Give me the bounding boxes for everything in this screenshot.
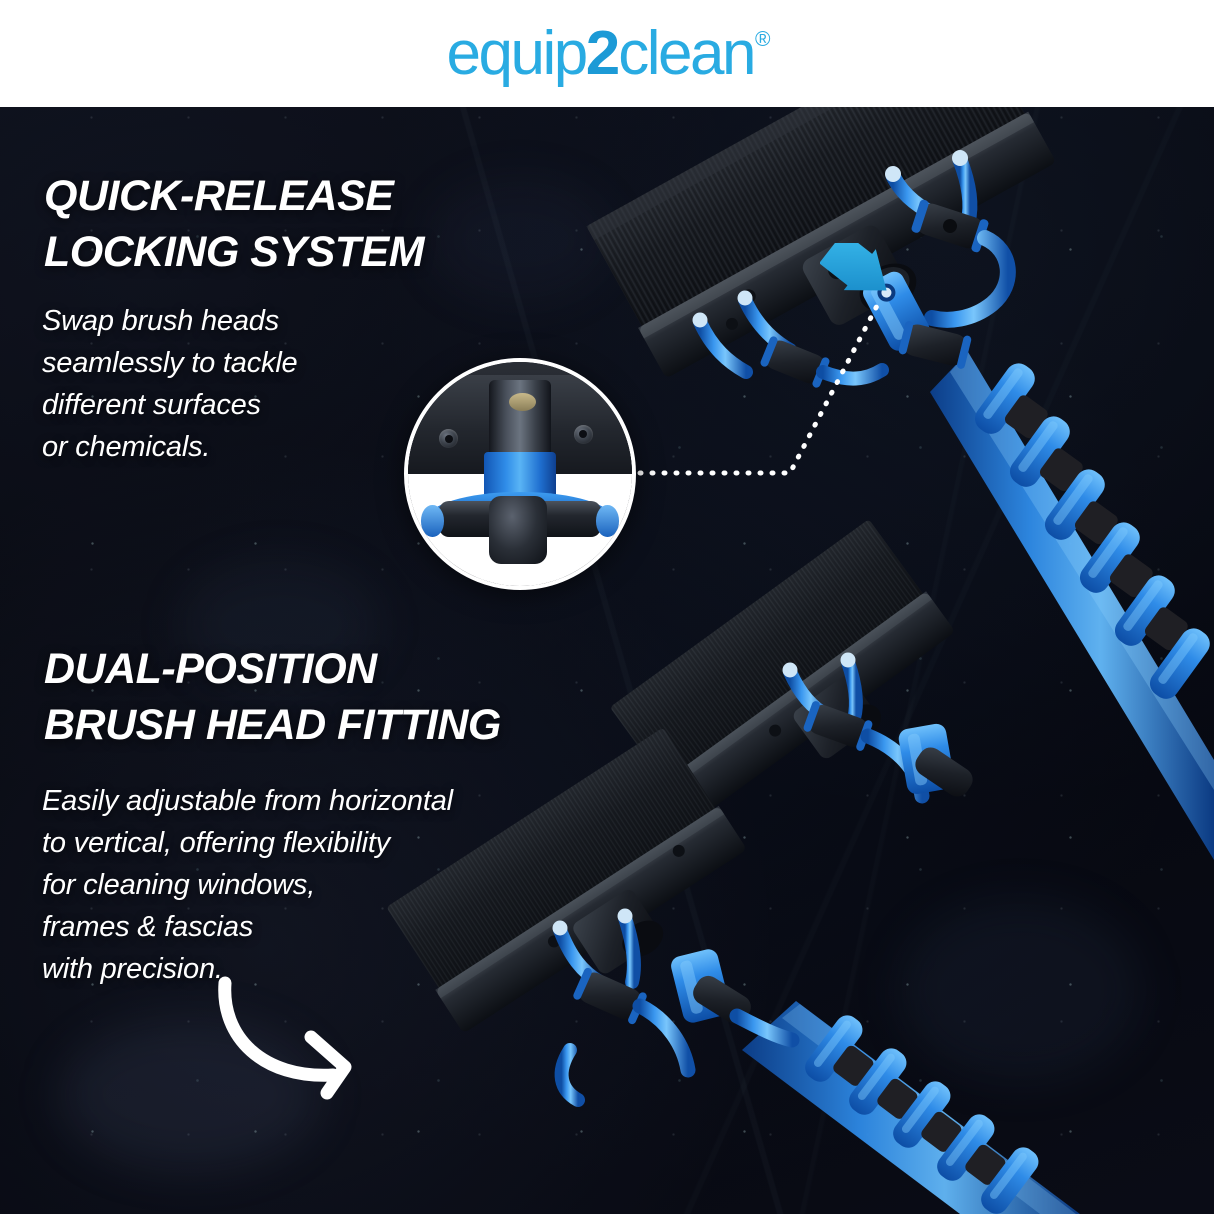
- logo-text-two: 2: [586, 18, 618, 89]
- feature-heading-quick-release: QUICK-RELEASE LOCKING SYSTEM: [44, 168, 424, 280]
- feature-body-quick-release: Swap brush heads seamlessly to tackle di…: [42, 300, 298, 468]
- inset-nub-right: [596, 505, 618, 536]
- feature-heading-dual-position: DUAL-POSITION BRUSH HEAD FITTING: [44, 641, 501, 753]
- curved-arrow-icon: [215, 975, 405, 1100]
- telescopic-pole: [742, 352, 1214, 1214]
- inset-brass-pin: [509, 393, 536, 411]
- logo-text-clean: clean: [618, 18, 754, 89]
- feature-body-dual-position: Easily adjustable from horizontal to ver…: [42, 780, 453, 990]
- inset-locking-knob: [489, 496, 547, 563]
- logo-text-equip: equip: [447, 18, 586, 89]
- infographic-page: equip 2 clean ® QUICK-RELEASE LOCKING SY…: [0, 0, 1214, 1214]
- brand-logo: equip 2 clean ®: [447, 18, 768, 89]
- detail-circle-inset: [404, 358, 636, 590]
- inset-nub-left: [421, 505, 443, 536]
- inset-screw-right: [574, 425, 593, 444]
- cyan-arrow-icon: [820, 243, 898, 315]
- registered-trademark-icon: ®: [755, 28, 768, 52]
- header-bar: equip 2 clean ®: [0, 0, 1214, 107]
